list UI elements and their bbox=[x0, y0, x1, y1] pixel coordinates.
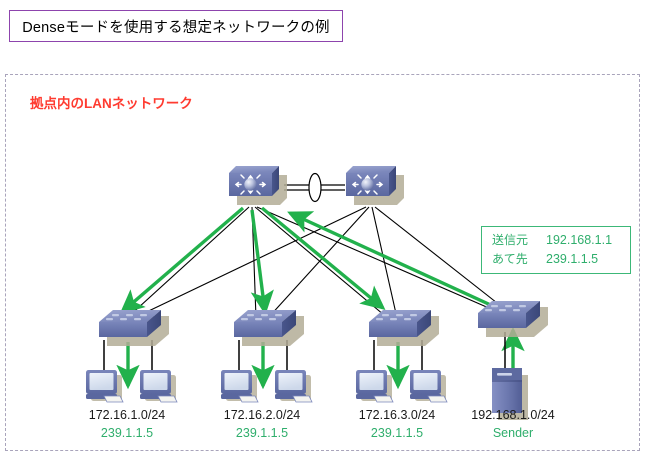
etherchannel-trunk bbox=[284, 174, 345, 202]
flow-source-row: 送信元 192.168.1.1 bbox=[492, 231, 630, 250]
pc-2a[interactable] bbox=[221, 370, 258, 402]
segment-subnet: 172.16.2.0/24 bbox=[224, 407, 300, 424]
access-switch-2[interactable] bbox=[234, 310, 304, 346]
flow-dest-row: あて先 239.1.1.5 bbox=[492, 250, 630, 269]
pc-2b[interactable] bbox=[275, 370, 312, 402]
flow-dest-label: あて先 bbox=[492, 250, 546, 269]
flow-source-label: 送信元 bbox=[492, 231, 546, 250]
segment-group: 239.1.1.5 bbox=[89, 424, 165, 443]
pc-1b[interactable] bbox=[140, 370, 177, 402]
segment-label-4: 192.168.1.0/24 Sender bbox=[471, 407, 554, 443]
multicast-upstream-flow bbox=[290, 213, 513, 382]
pc-3b[interactable] bbox=[410, 370, 447, 402]
link-group-core-right bbox=[134, 207, 506, 318]
segment-subnet: 172.16.1.0/24 bbox=[89, 407, 165, 424]
pc-3a[interactable] bbox=[356, 370, 393, 402]
access-switch-4[interactable] bbox=[478, 301, 548, 337]
flow-dest-value: 239.1.1.5 bbox=[546, 250, 598, 269]
core-switch-left[interactable] bbox=[229, 166, 287, 205]
segment-label-3: 172.16.3.0/24 239.1.1.5 bbox=[359, 407, 435, 443]
access-switch-1[interactable] bbox=[99, 310, 169, 346]
segment-subnet: 192.168.1.0/24 bbox=[471, 407, 554, 424]
segment-group: 239.1.1.5 bbox=[359, 424, 435, 443]
segment-label-1: 172.16.1.0/24 239.1.1.5 bbox=[89, 407, 165, 443]
segment-label-2: 172.16.2.0/24 239.1.1.5 bbox=[224, 407, 300, 443]
core-switch-right[interactable] bbox=[346, 166, 404, 205]
segment-subnet: 172.16.3.0/24 bbox=[359, 407, 435, 424]
segment-role: Sender bbox=[471, 424, 554, 443]
flow-source-value: 192.168.1.1 bbox=[546, 231, 612, 250]
pc-1a[interactable] bbox=[86, 370, 123, 402]
flow-info-box: 送信元 192.168.1.1 あて先 239.1.1.5 bbox=[481, 226, 631, 274]
access-switch-3[interactable] bbox=[369, 310, 439, 346]
multicast-downstream-flow bbox=[122, 208, 383, 312]
segment-group: 239.1.1.5 bbox=[224, 424, 300, 443]
